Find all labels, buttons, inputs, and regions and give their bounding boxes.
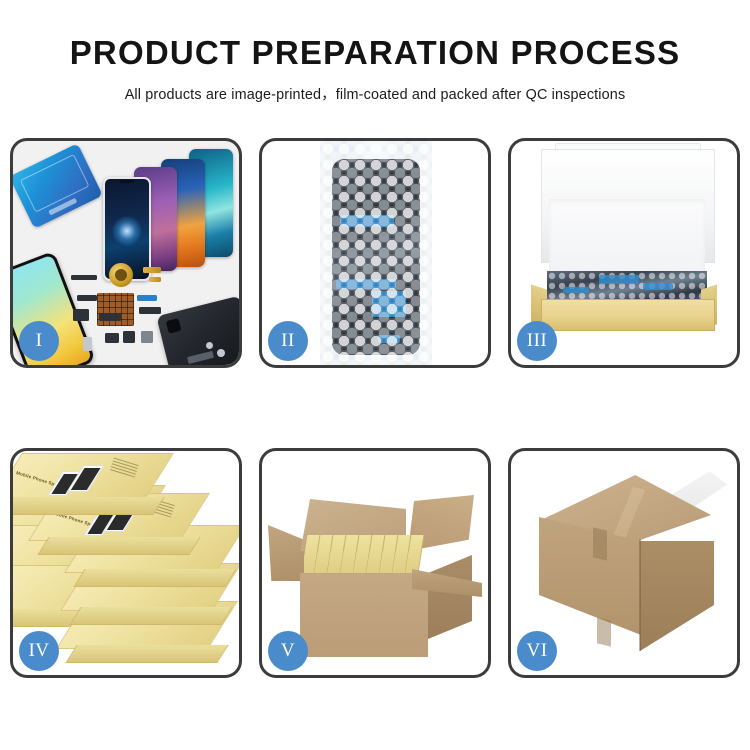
ribbon-part	[139, 307, 161, 314]
step-panel-phone-parts: I	[10, 138, 242, 368]
copper-pad-part	[97, 293, 134, 326]
flex-part	[71, 275, 97, 280]
blue-label-strip	[643, 283, 673, 290]
chip-part	[123, 331, 135, 343]
carton-side-panel	[640, 541, 714, 651]
speaker-coil-part	[109, 263, 133, 287]
step-badge-6: VI	[517, 631, 557, 671]
button-part	[105, 333, 119, 343]
connector-part	[73, 309, 89, 321]
gold-connector-part	[143, 267, 161, 273]
phone-notch	[120, 180, 135, 183]
step-panel-box-stack: Mobile Phone Spare Parts Mobile Phone Sp…	[10, 448, 242, 678]
box-side	[65, 645, 228, 663]
foam-sheet	[549, 199, 705, 273]
step-badge-2: II	[268, 321, 308, 361]
battery-part	[83, 337, 92, 351]
box-side	[37, 537, 200, 555]
small-flex-part	[77, 295, 97, 301]
process-step-grid: I II	[10, 138, 740, 684]
carton-seam-upper	[593, 527, 607, 560]
step-panel-inner-box: III	[508, 138, 740, 368]
step-panel-bubble-wrap: II	[259, 138, 491, 368]
product-preparation-poster: PRODUCT PREPARATION PROCESS All products…	[0, 0, 750, 750]
step-panel-open-carton: V	[259, 448, 491, 678]
blue-flex-part	[137, 295, 157, 301]
metal-shield-part	[141, 331, 153, 343]
gold-bracket-part	[149, 277, 161, 282]
poster-header: PRODUCT PREPARATION PROCESS All products…	[0, 0, 750, 104]
blue-label-strip	[599, 275, 639, 284]
bubble-texture-overlay	[320, 141, 432, 365]
step-badge-5: V	[268, 631, 308, 671]
phone-back-cover	[156, 296, 239, 365]
page-title: PRODUCT PREPARATION PROCESS	[0, 0, 750, 72]
blue-label-strip	[563, 287, 589, 293]
carton-right-panel	[428, 555, 472, 639]
carton-vertical-edge	[639, 539, 641, 651]
step-panel-sealed-carton: VI	[508, 448, 740, 678]
box-side	[69, 607, 232, 625]
camera-lens-icon	[166, 318, 182, 334]
bubble-wrap-bag	[320, 141, 432, 365]
cover-print-label	[187, 351, 214, 364]
step-badge-1: I	[19, 321, 59, 361]
carton-seam-lower	[597, 617, 611, 646]
screw-part	[206, 342, 213, 349]
box-side	[73, 569, 236, 587]
step-badge-4: IV	[19, 631, 59, 671]
box-side	[13, 497, 165, 515]
screw-part	[217, 349, 225, 357]
page-subtitle: All products are image-printed，film-coat…	[0, 72, 750, 104]
camera-module-part	[99, 313, 121, 321]
adhesive-film-icon	[13, 143, 103, 228]
carton-front-panel	[300, 573, 428, 657]
step-badge-3: III	[517, 321, 557, 361]
packed-screens	[547, 271, 707, 301]
mailer-front-panel	[541, 299, 715, 331]
